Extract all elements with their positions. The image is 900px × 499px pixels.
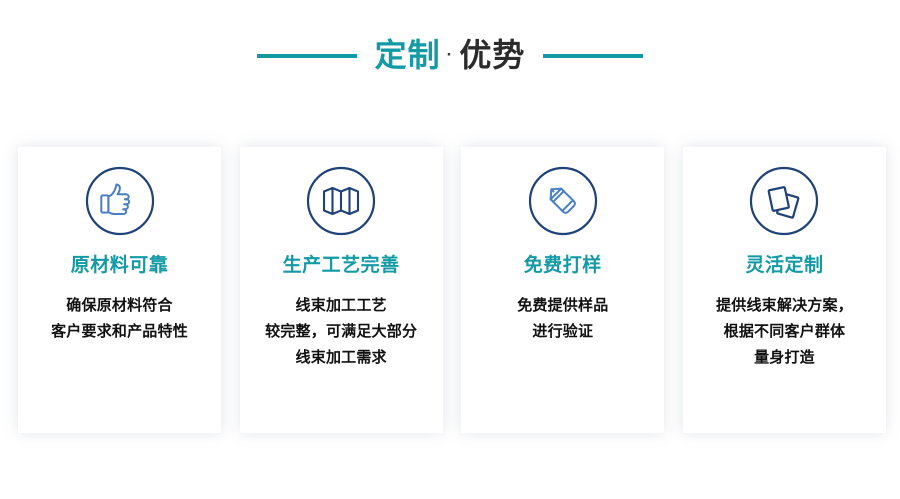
title-rest-text: 优势 — [459, 39, 525, 71]
advantage-card-body: 线束加工工艺 较完整，可满足大部分 线束加工需求 — [259, 293, 423, 371]
advantage-card-list: 原材料可靠 确保原材料符合 客户要求和产品特性 生产工艺完善 线束加工工艺 较完… — [18, 147, 886, 433]
pencil-icon — [527, 165, 599, 237]
advantage-card[interactable]: 灵活定制 提供线束解决方案， 根据不同客户群体 量身打造 — [683, 147, 886, 433]
title-separator-dot: · — [445, 46, 456, 63]
advantage-card-body: 提供线束解决方案， 根据不同客户群体 量身打造 — [710, 293, 859, 371]
advantage-card-title: 免费打样 — [524, 256, 602, 275]
title-accent-text: 定制 — [375, 39, 441, 71]
advantage-card-title: 灵活定制 — [745, 256, 823, 275]
page-title: 定制 · 优势 — [375, 39, 526, 71]
advantage-card-title: 原材料可靠 — [71, 256, 169, 275]
section-header: 定制 · 优势 — [0, 26, 900, 84]
advantage-card[interactable]: 生产工艺完善 线束加工工艺 较完整，可满足大部分 线束加工需求 — [240, 147, 443, 433]
header-rule-right — [543, 54, 643, 58]
advantages-section: 定制 · 优势 — [0, 0, 900, 499]
stacked-cards-icon — [748, 165, 820, 237]
advantage-card-body: 确保原材料符合 客户要求和产品特性 — [45, 293, 194, 345]
header-rule-left — [257, 54, 357, 58]
thumbs-up-icon — [84, 165, 156, 237]
advantage-card[interactable]: 原材料可靠 确保原材料符合 客户要求和产品特性 — [18, 147, 221, 433]
advantage-card-title: 生产工艺完善 — [283, 256, 400, 275]
advantage-card-body: 免费提供样品 进行验证 — [511, 293, 614, 345]
advantage-card[interactable]: 免费打样 免费提供样品 进行验证 — [461, 147, 664, 433]
folded-map-icon — [305, 165, 377, 237]
